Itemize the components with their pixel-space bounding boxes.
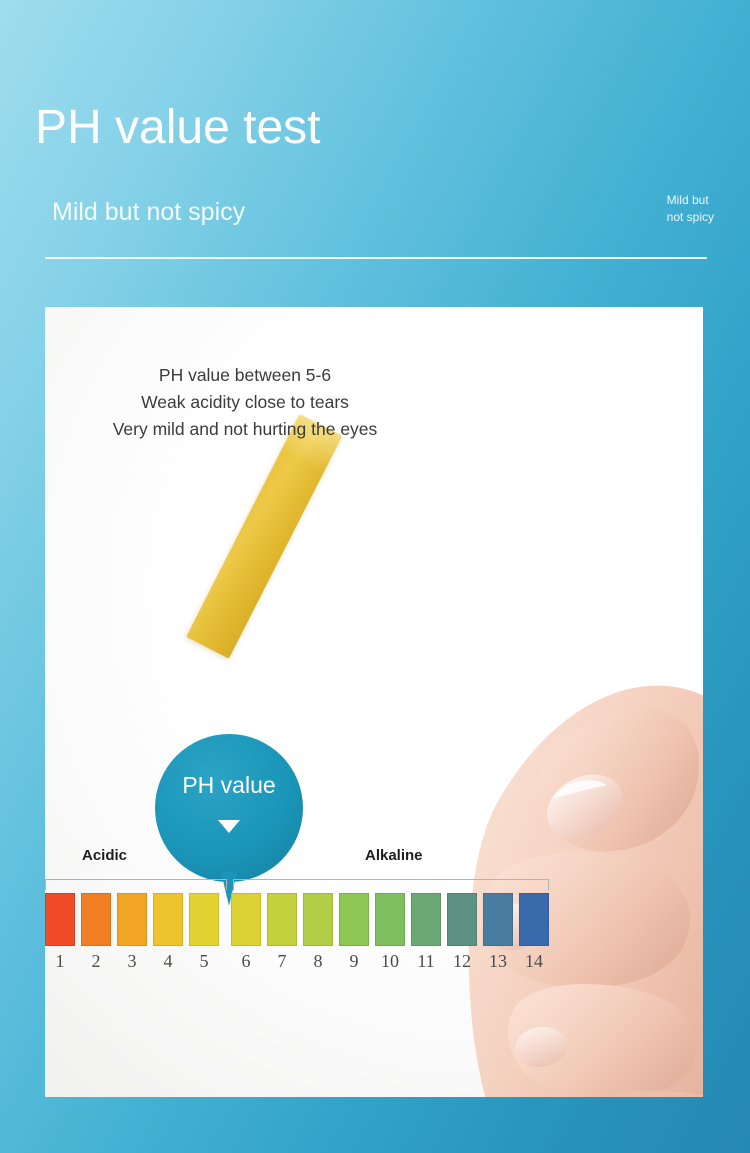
ph-value-badge-label: PH value bbox=[155, 772, 303, 799]
scale-brackets bbox=[45, 879, 703, 891]
ph-swatch-number: 6 bbox=[231, 950, 261, 972]
ph-value-test-page: PH value test Mild but not spicy Mild bu… bbox=[0, 0, 750, 1153]
ph-swatch-color bbox=[153, 893, 183, 946]
product-photo-card: PH value between 5-6 Weak acidity close … bbox=[45, 307, 703, 1097]
ph-swatch-row: 1234567891011121314 bbox=[45, 893, 703, 993]
ph-swatch-cell: 1 bbox=[45, 893, 75, 972]
corner-note: Mild but not spicy bbox=[667, 192, 714, 226]
ph-swatch-cell: 10 bbox=[375, 893, 405, 972]
ph-swatch-number: 1 bbox=[45, 950, 75, 972]
bracket-alkaline bbox=[233, 879, 549, 890]
corner-note-line-2: not spicy bbox=[667, 209, 714, 226]
ph-swatch-color bbox=[189, 893, 219, 946]
ph-swatch-number: 5 bbox=[189, 950, 219, 972]
ph-swatch-color bbox=[483, 893, 513, 946]
ph-test-strip bbox=[186, 414, 342, 659]
ph-swatch-color bbox=[231, 893, 261, 946]
ph-swatch-number: 8 bbox=[303, 950, 333, 972]
hand-illustration bbox=[345, 507, 703, 1097]
ph-swatch-color bbox=[303, 893, 333, 946]
ph-swatch-cell: 2 bbox=[81, 893, 111, 972]
card-caption: PH value between 5-6 Weak acidity close … bbox=[55, 362, 435, 443]
ph-swatch-number: 12 bbox=[447, 950, 477, 972]
ph-swatch-cell: 11 bbox=[411, 893, 441, 972]
ph-color-scale: Acidic Alkaline 1234567891011121314 bbox=[45, 847, 703, 1007]
ph-swatch-number: 4 bbox=[153, 950, 183, 972]
bracket-acidic bbox=[45, 879, 227, 890]
ph-swatch-number: 2 bbox=[81, 950, 111, 972]
ph-swatch-number: 7 bbox=[267, 950, 297, 972]
corner-note-line-1: Mild but bbox=[667, 192, 714, 209]
ph-swatch-cell: 6 bbox=[231, 893, 261, 972]
page-title: PH value test bbox=[35, 100, 320, 156]
ph-swatch-cell: 9 bbox=[339, 893, 369, 972]
caption-line-3: Very mild and not hurting the eyes bbox=[55, 416, 435, 443]
ph-swatch-number: 10 bbox=[375, 950, 405, 972]
ph-swatch-color bbox=[45, 893, 75, 946]
ph-swatch-cell: 5 bbox=[189, 893, 219, 972]
legend-alkaline-label: Alkaline bbox=[365, 847, 423, 864]
ph-swatch-cell: 7 bbox=[267, 893, 297, 972]
ph-swatch-number: 9 bbox=[339, 950, 369, 972]
ph-swatch-color bbox=[447, 893, 477, 946]
ph-swatch-cell: 4 bbox=[153, 893, 183, 972]
triangle-down-icon bbox=[218, 820, 240, 833]
scale-legend: Acidic Alkaline bbox=[45, 847, 703, 871]
ph-swatch-number: 3 bbox=[117, 950, 147, 972]
ph-swatch-cell: 8 bbox=[303, 893, 333, 972]
ph-swatch-cell: 13 bbox=[483, 893, 513, 972]
ph-swatch-color bbox=[117, 893, 147, 946]
ph-swatch-color bbox=[375, 893, 405, 946]
page-subtitle: Mild but not spicy bbox=[52, 196, 245, 228]
legend-acidic-label: Acidic bbox=[82, 847, 127, 864]
ph-swatch-cell: 3 bbox=[117, 893, 147, 972]
ph-swatch-color bbox=[81, 893, 111, 946]
ph-swatch-color bbox=[267, 893, 297, 946]
header-divider bbox=[45, 257, 707, 259]
ph-swatch-cell: 14 bbox=[519, 893, 549, 972]
ph-swatch-color bbox=[339, 893, 369, 946]
page-header: PH value test Mild but not spicy Mild bu… bbox=[0, 0, 750, 300]
ph-swatch-cell: 12 bbox=[447, 893, 477, 972]
caption-line-2: Weak acidity close to tears bbox=[55, 389, 435, 416]
caption-line-1: PH value between 5-6 bbox=[55, 362, 435, 389]
ph-swatch-color bbox=[519, 893, 549, 946]
ph-swatch-number: 13 bbox=[483, 950, 513, 972]
ph-swatch-number: 14 bbox=[519, 950, 549, 972]
ph-swatch-color bbox=[411, 893, 441, 946]
ph-swatch-number: 11 bbox=[411, 950, 441, 972]
